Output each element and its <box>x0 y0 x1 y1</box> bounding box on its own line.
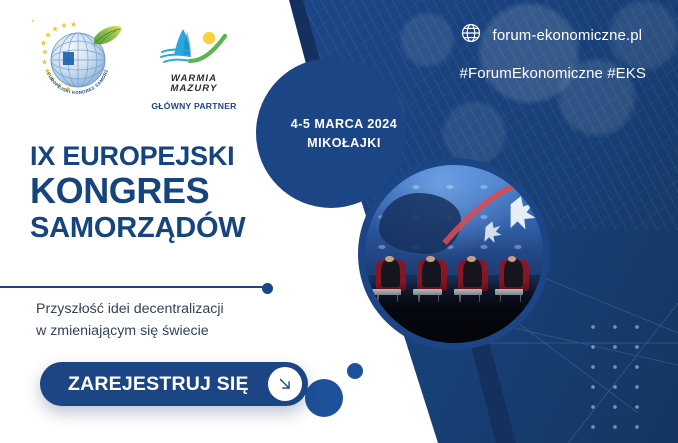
event-date: 4-5 MARCA 2024 <box>291 117 398 131</box>
contact-block: forum-ekonomiczne.pl #ForumEkonomiczne #… <box>460 22 646 82</box>
warmia-mazury-logo: WARMIA MAZURY GŁÓWNY PARTNER <box>146 20 242 116</box>
warmia-mazury-wordmark: WARMIA MAZURY <box>146 74 242 94</box>
panel-discussion-photo <box>365 165 543 343</box>
warmia-word-line2: MAZURY <box>146 84 242 94</box>
decorative-circle-small <box>347 363 363 379</box>
website-url[interactable]: forum-ekonomiczne.pl <box>493 27 643 44</box>
headline-line-1: IX EUROPEJSKI <box>30 142 245 171</box>
globe-icon <box>460 22 482 49</box>
decorative-circle-large <box>305 379 343 417</box>
headline-line-3: SAMORZĄDÓW <box>30 212 245 244</box>
arrow-down-right-icon <box>268 367 302 401</box>
headline-line-2: KONGRES <box>30 172 245 211</box>
photo-ring <box>358 158 550 350</box>
backdrop-swoosh-graphic <box>440 169 543 251</box>
glowny-partner-label: GŁÓWNY PARTNER <box>146 101 242 111</box>
register-button-label: ZAREJESTRUJ SIĘ <box>68 373 249 396</box>
hashtags: #ForumEkonomiczne #EKS <box>460 65 646 82</box>
divider-rule <box>0 286 268 288</box>
europejski-kongres-samorzadow-globe-logo: EUROPEJSKI KONGRES SAMORZĄDÓW <box>32 20 124 116</box>
website-row[interactable]: forum-ekonomiczne.pl <box>460 22 646 49</box>
divider-knob <box>262 283 273 294</box>
event-location: MIKOŁAJKI <box>307 136 381 150</box>
register-button[interactable]: ZAREJESTRUJ SIĘ <box>40 362 308 406</box>
page-title: IX EUROPEJSKI KONGRES SAMORZĄDÓW <box>30 142 245 245</box>
logo-row: EUROPEJSKI KONGRES SAMORZĄDÓW <box>32 20 242 116</box>
subtitle: Przyszłość idei decentralizacji w zmieni… <box>36 298 224 342</box>
divider <box>0 283 276 292</box>
audience-silhouettes <box>365 282 543 343</box>
warmia-mazury-mark <box>157 24 231 70</box>
subtitle-line-2: w zmieniającym się świecie <box>36 320 224 342</box>
dot-grid-decoration <box>582 317 656 435</box>
subtitle-line-1: Przyszłość idei decentralizacji <box>36 298 224 320</box>
congress-banner: 4-5 MARCA 2024 MIKOŁAJKI <box>0 0 678 443</box>
